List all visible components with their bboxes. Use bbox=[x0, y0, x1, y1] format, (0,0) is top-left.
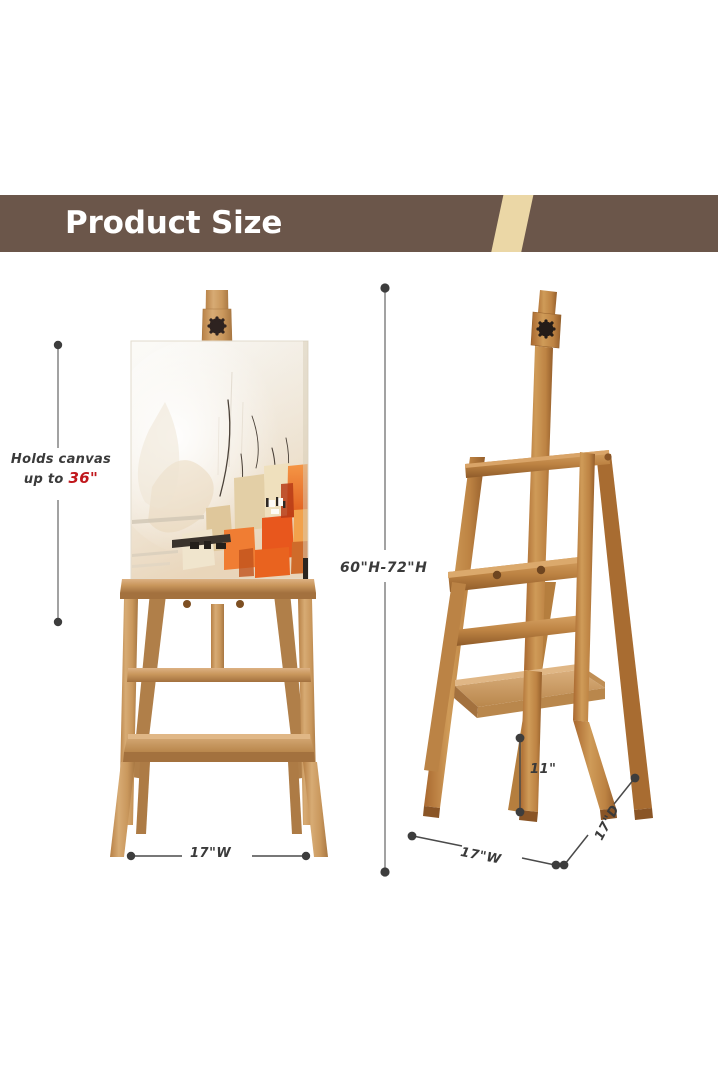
label-overall-height: 60"H-72"H bbox=[340, 560, 427, 576]
header-accent-stripe bbox=[489, 195, 535, 252]
label-width-left-view: 17"W bbox=[190, 846, 231, 861]
label-tray-height: 11" bbox=[530, 762, 556, 777]
left-easel bbox=[103, 290, 328, 857]
canvas-artwork bbox=[103, 340, 308, 579]
canvas-capacity-line2-prefix: up to bbox=[24, 472, 69, 487]
header-banner: Product Size bbox=[0, 195, 718, 252]
label-canvas-capacity: Holds canvas up to 36" bbox=[6, 450, 116, 489]
right-easel-mast-top bbox=[531, 290, 561, 348]
dimension-overall-height bbox=[380, 283, 389, 876]
left-easel-mast-top bbox=[202, 290, 232, 347]
right-easel bbox=[423, 290, 653, 822]
canvas-capacity-line1: Holds canvas bbox=[11, 452, 111, 467]
page-title: Product Size bbox=[65, 195, 282, 252]
canvas-capacity-value: 36" bbox=[68, 469, 98, 487]
